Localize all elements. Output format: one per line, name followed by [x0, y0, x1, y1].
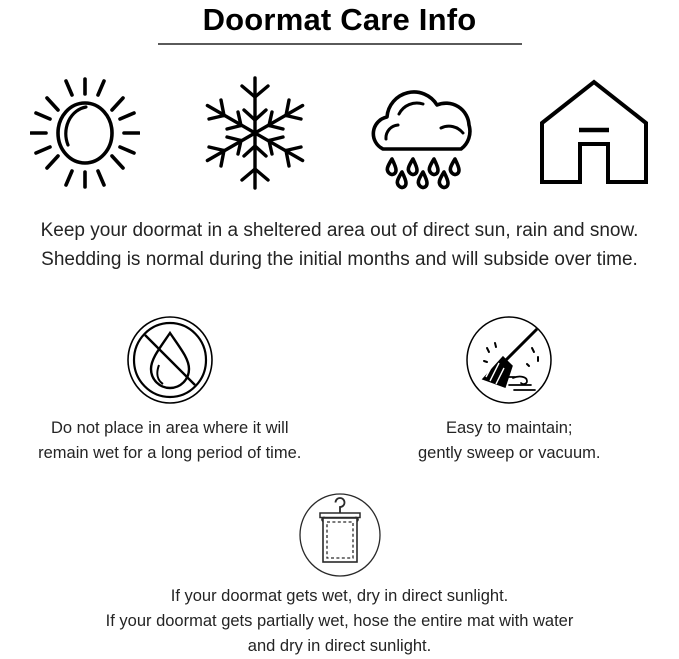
tips-row: Do not place in area where it will remai… — [0, 312, 679, 466]
tip-1-line-2: remain wet for a long period of time. — [38, 441, 301, 466]
intro-paragraph: Keep your doormat in a sheltered area ou… — [0, 216, 679, 274]
bottom-line-1: If your doormat gets wet, dry in direct … — [106, 584, 574, 609]
no-water-icon — [126, 315, 214, 405]
sun-icon — [30, 75, 140, 191]
tip-caption-easy-maintain: Easy to maintain; gently sweep or vacuum… — [418, 416, 601, 466]
intro-line-2: Shedding is normal during the initial mo… — [0, 245, 679, 274]
weather-cell-rain — [340, 72, 510, 194]
tip-no-standing-water: Do not place in area where it will remai… — [0, 312, 340, 466]
badge-wrap-no-water — [126, 312, 214, 408]
house-icon — [536, 78, 652, 188]
rain-cloud-icon — [365, 75, 483, 191]
bottom-line-3: and dry in direct sunlight. — [106, 634, 574, 659]
hang-to-dry-icon — [299, 493, 381, 577]
snowflake-icon — [203, 75, 307, 191]
broom-sweep-icon — [465, 315, 553, 405]
badge-wrap-broom — [465, 312, 553, 408]
tip-2-line-2: gently sweep or vacuum. — [418, 441, 601, 466]
title-underline-rule — [158, 43, 522, 45]
weather-cell-house — [509, 72, 679, 194]
bottom-tip: If your doormat gets wet, dry in direct … — [0, 492, 679, 659]
tip-caption-no-standing-water: Do not place in area where it will remai… — [38, 416, 301, 466]
badge-wrap-hang-to-dry — [299, 492, 381, 578]
tip-2-line-1: Easy to maintain; — [418, 416, 601, 441]
care-info-sheet: Doormat Care Info — [0, 0, 679, 655]
bottom-line-2: If your doormat gets partially wet, hose… — [106, 609, 574, 634]
title-block: Doormat Care Info — [0, 0, 679, 45]
tip-1-line-1: Do not place in area where it will — [38, 416, 301, 441]
weather-cell-sun — [0, 72, 170, 194]
intro-line-1: Keep your doormat in a sheltered area ou… — [0, 216, 679, 245]
weather-icon-row — [0, 72, 679, 194]
bottom-tip-caption: If your doormat gets wet, dry in direct … — [106, 584, 574, 659]
weather-cell-snow — [170, 72, 340, 194]
page-title: Doormat Care Info — [0, 0, 679, 38]
tip-easy-maintain: Easy to maintain; gently sweep or vacuum… — [340, 312, 679, 466]
